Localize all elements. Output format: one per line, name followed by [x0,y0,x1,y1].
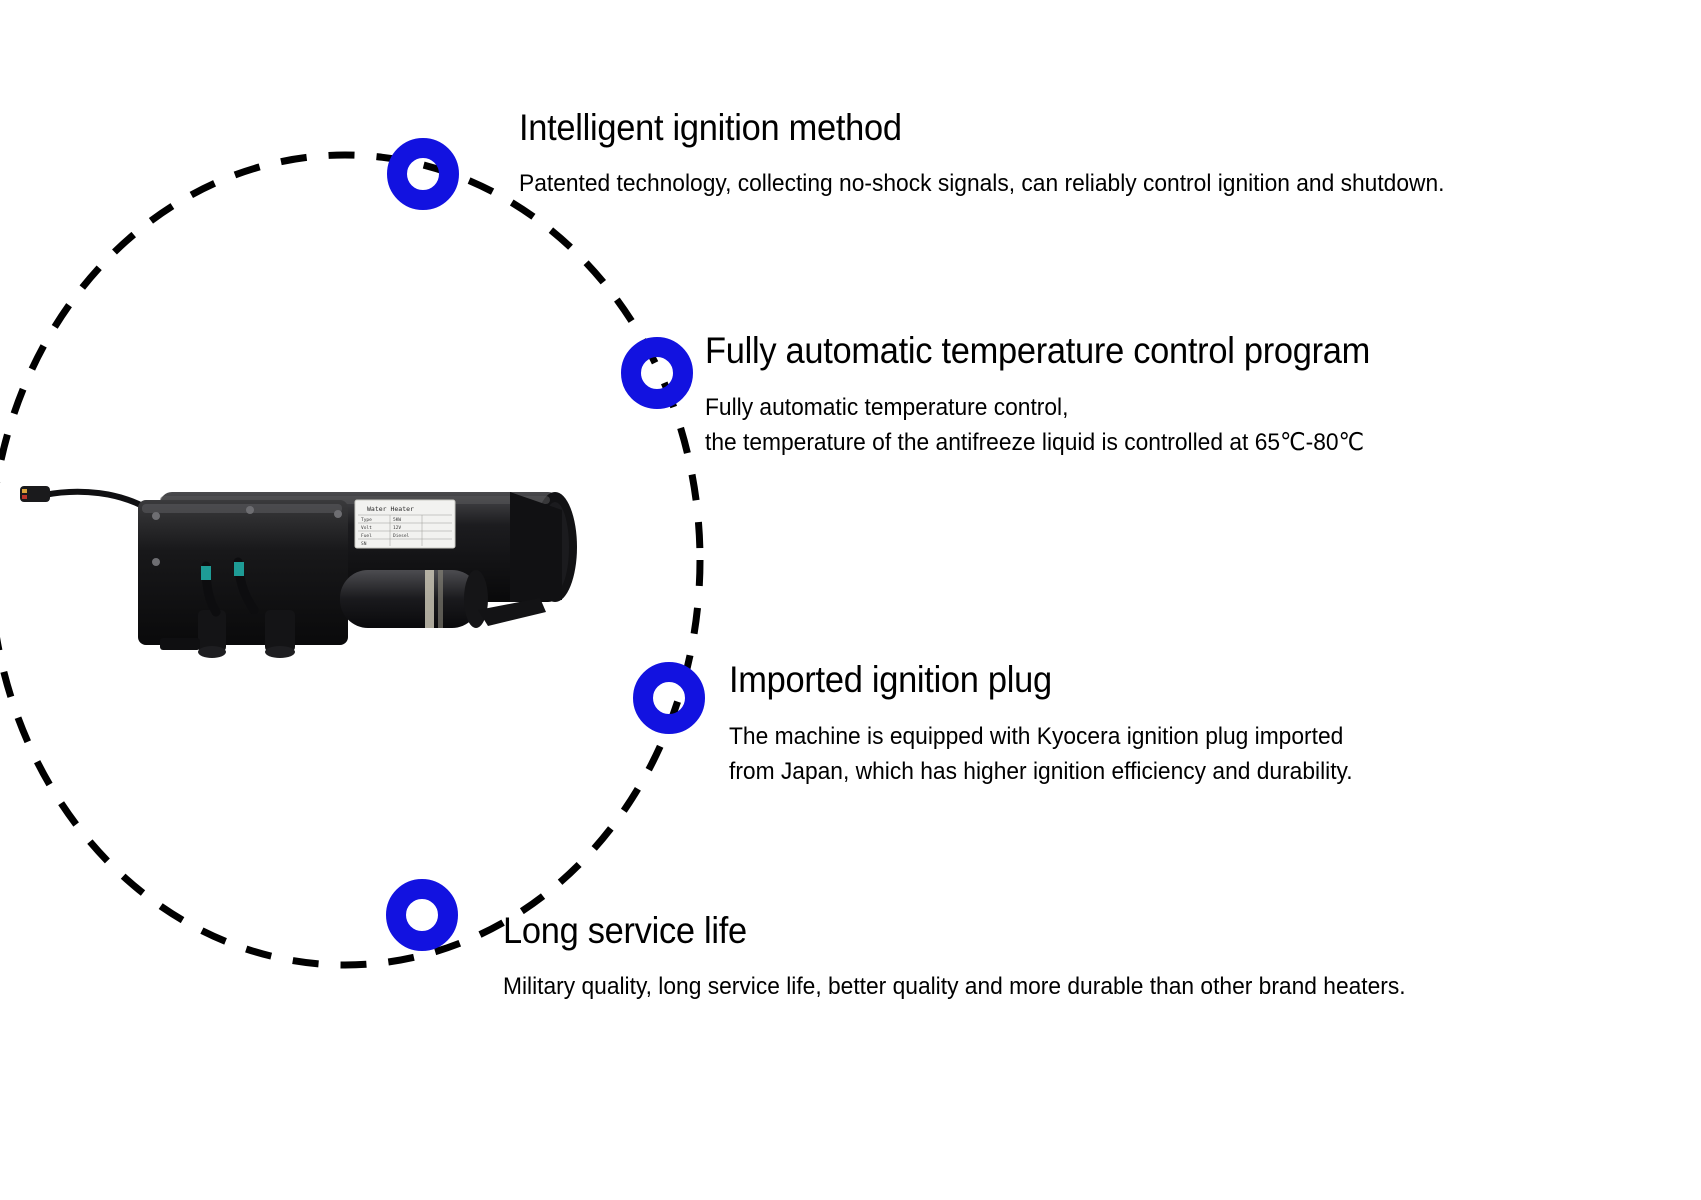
feature-title: Intelligent ignition method [519,108,1444,149]
feature-block-long-service-life: Long service life Military quality, long… [503,911,1474,1004]
feature-title: Fully automatic temperature control prog… [705,331,1370,372]
feature-description: Military quality, long service life, bet… [503,969,1406,1005]
feature-description-line: Military quality, long service life, bet… [503,969,1406,1005]
blue-ring-marker-1[interactable] [387,138,459,210]
svg-text:5KW: 5KW [393,517,401,523]
cable-connector [20,486,50,502]
feature-description: Fully automatic temperature control, the… [705,390,1370,461]
svg-text:Fuel: Fuel [361,533,372,539]
blue-ring-marker-2[interactable] [621,337,693,409]
product-label: Water Heater Type 5KW Volt 12V Fuel Dies… [355,500,455,548]
feature-title: Imported ignition plug [729,660,1353,701]
blue-ring-marker-3[interactable] [633,662,705,734]
svg-text:SN: SN [361,541,367,547]
feature-description-line: Fully automatic temperature control, [705,390,1370,426]
feature-description-line: the temperature of the antifreeze liquid… [705,425,1370,461]
svg-text:Water Heater: Water Heater [367,505,414,513]
feature-description: The machine is equipped with Kyocera ign… [729,719,1353,790]
feature-title: Long service life [503,911,1406,952]
svg-text:12V: 12V [393,525,401,531]
svg-text:Diesel: Diesel [393,533,410,539]
feature-block-fully-automatic-temperature-control-program: Fully automatic temperature control prog… [705,331,1420,461]
feature-description-line: The machine is equipped with Kyocera ign… [729,719,1353,755]
mount-foot [160,638,200,650]
feature-description-line: from Japan, which has higher ignition ef… [729,754,1353,790]
power-cable [44,492,150,510]
feature-description-line: Patented technology, collecting no-shock… [519,166,1444,202]
mounting-bracket [478,598,546,626]
svg-text:Type: Type [361,517,372,523]
product-photo: Water Heater Type 5KW Volt 12V Fuel Dies… [10,470,580,670]
feature-block-imported-ignition-plug: Imported ignition plug The machine is eq… [729,660,1400,790]
feature-description: Patented technology, collecting no-shock… [519,166,1444,202]
pump-motor [340,570,488,628]
feature-block-intelligent-ignition-method: Intelligent ignition method Patented tec… [519,108,1514,201]
svg-text:Volt: Volt [361,525,372,531]
blue-ring-marker-4[interactable] [386,879,458,951]
